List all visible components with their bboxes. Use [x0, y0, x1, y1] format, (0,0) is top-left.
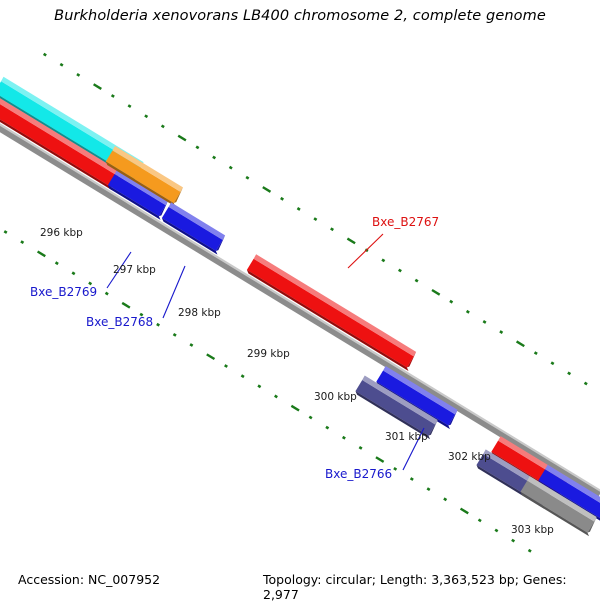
coordinate-label: 303 kbp	[511, 524, 554, 536]
coordinate-label: 299 kbp	[247, 348, 290, 360]
tick-mark	[4, 231, 7, 233]
tick-mark	[94, 84, 102, 89]
coordinate-label: 298 kbp	[178, 307, 221, 319]
tick-mark	[450, 301, 453, 303]
coordinate-label: 296 kbp	[40, 227, 83, 239]
tick-mark	[432, 290, 440, 295]
tick-mark	[229, 167, 232, 169]
tick-mark	[196, 147, 199, 149]
tick-mark	[382, 260, 385, 262]
coordinate-label: 301 kbp	[385, 431, 428, 443]
tick-mark	[528, 550, 531, 552]
tick-mark	[500, 331, 503, 333]
tick-mark	[162, 126, 165, 128]
coordinate-label: 297 kbp	[113, 264, 156, 276]
tick-mark	[44, 54, 47, 56]
tick-mark	[399, 270, 402, 272]
tick-mark	[461, 509, 469, 514]
tick-mark	[275, 396, 278, 398]
genome-stats-text: Topology: circular; Length: 3,363,523 bp…	[263, 572, 600, 602]
tick-mark	[551, 362, 554, 364]
tick-mark	[241, 375, 244, 377]
tick-mark	[326, 427, 329, 429]
tick-mark	[535, 352, 538, 354]
tick-mark	[56, 262, 59, 264]
tick-mark	[394, 468, 397, 470]
tick-mark	[444, 499, 447, 501]
tick-mark	[478, 520, 481, 522]
accession-text: Accession: NC_007952	[18, 572, 160, 587]
coordinate-labels-layer: 296 kbp297 kbp298 kbp299 kbp300 kbp301 k…	[40, 227, 554, 536]
tick-mark	[495, 530, 498, 532]
tick-mark	[331, 228, 334, 230]
tick-mark	[77, 74, 80, 76]
tick-mark	[21, 241, 24, 243]
coordinate-label: 302 kbp	[448, 451, 491, 463]
tick-mark	[585, 383, 588, 385]
tick-mark	[72, 273, 75, 275]
leader-line-bxe_b2767	[348, 234, 383, 268]
tick-mark	[517, 341, 525, 346]
tick-mark	[415, 280, 418, 282]
tick-mark	[483, 321, 486, 323]
tick-mark	[106, 293, 109, 295]
tick-mark	[467, 311, 470, 313]
tick-mark	[291, 406, 299, 411]
tick-mark	[157, 324, 160, 326]
tick-mark	[258, 386, 261, 388]
tick-mark	[27, 44, 30, 46]
tick-mark	[9, 33, 17, 38]
tick-mark	[512, 540, 515, 542]
tick-mark	[359, 447, 362, 449]
tick-mark	[309, 417, 312, 419]
tick-mark	[89, 283, 92, 285]
tick-mark	[343, 437, 346, 439]
genome-diagram: 296 kbp297 kbp298 kbp299 kbp300 kbp301 k…	[0, 0, 600, 600]
tick-mark	[347, 239, 355, 244]
tick-mark	[178, 136, 186, 141]
tick-mark	[38, 251, 46, 256]
genome-map-canvas: Burkholderia xenovorans LB400 chromosome…	[0, 0, 600, 600]
tick-mark	[281, 198, 284, 200]
gene-label-bxe_b2768[interactable]: Bxe_B2768	[86, 315, 153, 329]
tick-mark	[225, 365, 228, 367]
tick-mark	[145, 115, 148, 117]
gene-label-bxe_b2769[interactable]: Bxe_B2769	[30, 285, 97, 299]
tick-mark	[297, 208, 300, 210]
gene-top-face	[254, 254, 416, 356]
tick-mark	[213, 157, 216, 159]
tick-mark	[314, 218, 317, 220]
tick-mark	[60, 64, 63, 66]
tick-mark	[190, 344, 193, 346]
gene-label-bxe_b2767[interactable]: Bxe_B2767	[372, 215, 439, 229]
tick-mark	[246, 177, 249, 179]
tick-mark	[568, 373, 571, 375]
gene-label-bxe_b2766[interactable]: Bxe_B2766	[325, 467, 392, 481]
tick-mark	[122, 303, 130, 308]
tick-mark	[427, 488, 430, 490]
coordinate-label: 300 kbp	[314, 391, 357, 403]
tick-mark	[411, 478, 414, 480]
tick-mark	[173, 334, 176, 336]
tick-mark	[263, 187, 271, 192]
tick-mark	[112, 95, 115, 97]
tick-mark	[128, 105, 131, 107]
tick-mark	[207, 354, 215, 359]
tick-mark	[376, 457, 384, 462]
